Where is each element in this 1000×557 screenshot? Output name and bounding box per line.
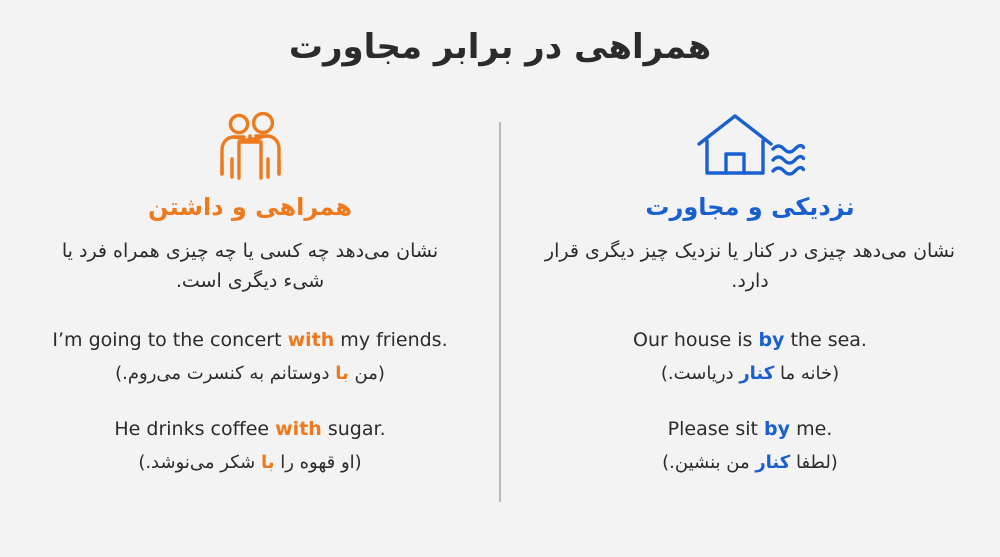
example-fa-after: شکر می‌نوشد.)	[138, 452, 261, 473]
example-en-keyword: by	[758, 329, 784, 351]
example-item: Please sit by me. (لطفا کنار من بنشین.)	[528, 415, 972, 476]
example-fa-keyword: با	[261, 452, 275, 473]
example-en-before: I’m going to the concert	[52, 329, 287, 351]
columns-container: همراهی و داشتن نشان می‌دهد چه کسی یا چه …	[0, 110, 1000, 477]
example-fa-keyword: کنار	[755, 452, 790, 473]
example-en-after: sugar.	[322, 418, 386, 440]
example-fa-before: (لطفا	[790, 452, 838, 473]
example-en-keyword: with	[288, 329, 335, 351]
example-en-before: Please sit	[668, 418, 764, 440]
examples-accompaniment: I’m going to the concert with my friends…	[28, 326, 472, 477]
example-english: I’m going to the concert with my friends…	[28, 326, 472, 355]
example-fa-before: (او قهوه را	[274, 452, 361, 473]
infographic-page: همراهی در برابر مجاورت	[0, 0, 1000, 557]
example-english: Our house is by the sea.	[528, 326, 972, 355]
two-people-icon	[209, 110, 291, 182]
column-proximity: نزدیکی و مجاورت نشان می‌دهد چیزی در کنار…	[500, 110, 1000, 477]
example-fa-after: دریاست.)	[661, 363, 739, 384]
example-persian: (خانه ما کنار دریاست.)	[528, 360, 972, 388]
example-persian: (لطفا کنار من بنشین.)	[528, 449, 972, 477]
example-en-keyword: with	[275, 418, 322, 440]
example-persian: (او قهوه را با شکر می‌نوشد.)	[28, 449, 472, 477]
example-fa-after: من بنشین.)	[662, 452, 755, 473]
example-en-before: Our house is	[633, 329, 758, 351]
house-by-sea-icon	[695, 110, 805, 182]
page-title: همراهی در برابر مجاورت	[0, 26, 1000, 69]
example-fa-before: (من	[349, 363, 385, 384]
example-item: I’m going to the concert with my friends…	[28, 326, 472, 387]
example-item: Our house is by the sea. (خانه ما کنار د…	[528, 326, 972, 387]
example-en-keyword: by	[764, 418, 790, 440]
column-accompaniment: همراهی و داشتن نشان می‌دهد چه کسی یا چه …	[0, 110, 500, 477]
example-fa-after: دوستانم به کنسرت می‌روم.)	[115, 363, 335, 384]
example-fa-keyword: کنار	[739, 363, 774, 384]
examples-proximity: Our house is by the sea. (خانه ما کنار د…	[528, 326, 972, 477]
column-definition-proximity: نشان می‌دهد چیزی در کنار یا نزدیک چیز دی…	[540, 237, 960, 296]
column-heading-proximity: نزدیکی و مجاورت	[645, 192, 854, 223]
column-heading-accompaniment: همراهی و داشتن	[148, 192, 352, 223]
example-fa-before: (خانه ما	[774, 363, 839, 384]
example-en-before: He drinks coffee	[114, 418, 275, 440]
example-english: Please sit by me.	[528, 415, 972, 444]
example-fa-keyword: با	[335, 363, 349, 384]
column-definition-accompaniment: نشان می‌دهد چه کسی یا چه چیزی همراه فرد …	[40, 237, 460, 296]
example-en-after: my friends.	[334, 329, 447, 351]
example-item: He drinks coffee with sugar. (او قهوه را…	[28, 415, 472, 476]
example-english: He drinks coffee with sugar.	[28, 415, 472, 444]
example-en-after: the sea.	[784, 329, 867, 351]
example-persian: (من با دوستانم به کنسرت می‌روم.)	[28, 360, 472, 388]
example-en-after: me.	[790, 418, 832, 440]
